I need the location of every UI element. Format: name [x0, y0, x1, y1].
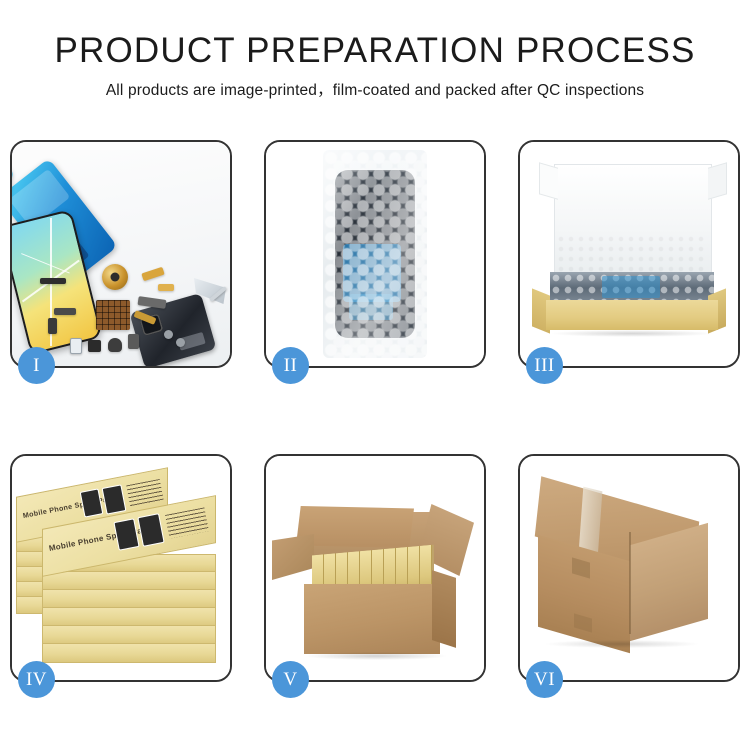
carton-left-flap [272, 534, 314, 580]
spare-part-icon [158, 284, 174, 291]
chip-grid-part-icon [96, 300, 130, 330]
step-badge-3: III [526, 347, 563, 384]
spare-part-icon [70, 338, 82, 354]
step-2-image [266, 142, 484, 366]
step-badge-4: IV [18, 661, 55, 698]
carton-front-wall [304, 584, 440, 654]
spare-part-icon [141, 267, 164, 281]
screw-icon [164, 330, 173, 339]
spare-part-icon [40, 278, 66, 284]
header: PRODUCT PREPARATION PROCESS All products… [0, 30, 750, 100]
stacked-box [42, 607, 216, 627]
step-5-image [266, 456, 484, 680]
process-grid: I II [10, 140, 740, 685]
infographic-page: PRODUCT PREPARATION PROCESS All products… [0, 0, 750, 750]
spare-part-icon [54, 308, 76, 315]
stacked-box [42, 625, 216, 645]
step-badge-2: II [272, 347, 309, 384]
plastic-sheen [323, 150, 427, 358]
spare-part-icon [88, 340, 101, 352]
spare-part-icon [48, 318, 57, 334]
page-subtitle: All products are image-printed，film-coat… [0, 78, 750, 100]
spare-part-icon [108, 338, 122, 352]
stacked-box [42, 571, 216, 591]
step-badge-1: I [18, 347, 55, 384]
spare-part-icon [138, 296, 167, 309]
kraft-box-front [546, 300, 718, 330]
step-badge-5: V [272, 661, 309, 698]
step-4-image: Mobile Phone Spare Parts Mobile Phone Sp… [12, 456, 230, 680]
step-1-image [12, 142, 230, 366]
box-shadow [550, 330, 714, 337]
carton-shadow [546, 640, 698, 648]
step-6-image [520, 456, 738, 680]
stacked-box [42, 589, 216, 609]
carton-edge-seam [629, 532, 631, 634]
sealed-carton-right-face [630, 523, 708, 641]
process-step-2: II [264, 140, 486, 368]
step-badge-6: VI [526, 661, 563, 698]
bubble-wrap-package [323, 150, 427, 358]
carton-side-wall [432, 570, 456, 648]
process-step-4: Mobile Phone Spare Parts Mobile Phone Sp… [10, 454, 232, 682]
process-step-1: I [10, 140, 232, 368]
process-step-5: V [264, 454, 486, 682]
stacked-box [42, 643, 216, 663]
carton-shadow [306, 652, 446, 660]
process-step-6: VI [518, 454, 740, 682]
spare-part-icon [128, 334, 139, 349]
process-step-3: III [518, 140, 740, 368]
step-3-image [520, 142, 738, 366]
screw-icon [176, 338, 185, 347]
page-title: PRODUCT PREPARATION PROCESS [0, 30, 750, 72]
coil-part-icon [102, 264, 128, 290]
box-stack: Mobile Phone Spare Parts Mobile Phone Sp… [12, 456, 230, 680]
